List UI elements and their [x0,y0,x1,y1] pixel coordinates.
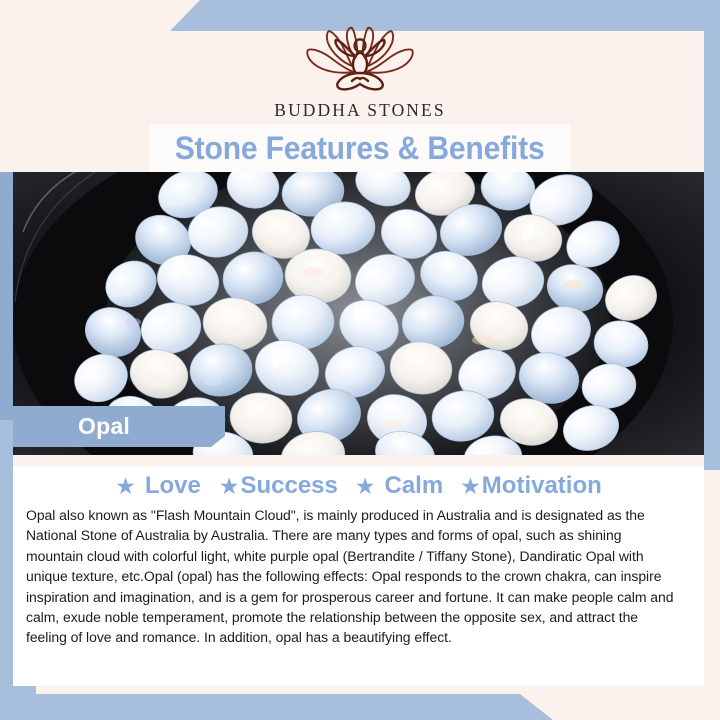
benefit-label-love: Love [145,472,201,500]
page-title: Stone Features & Benefits [175,130,545,167]
benefit-label-motivation: Motivation [482,472,602,500]
decorative-band-bottom [0,694,720,720]
infographic-page: BUDDHA STONES Stone Features & Benefits [0,0,720,720]
benefits-row: ★ Love ★ Success ★ Calm ★ Motivation [13,466,704,500]
benefit-success: ★ Success [219,472,338,500]
star-icon: ★ [115,475,136,498]
benefit-label-calm: Calm [384,472,443,500]
page-header: BUDDHA STONES Stone Features & Benefits [0,0,720,172]
benefit-love: ★ Love [115,472,201,500]
benefit-motivation: ★ Motivation [460,472,602,500]
star-icon: ★ [460,475,481,498]
star-icon: ★ [355,475,376,498]
star-icon: ★ [219,475,240,498]
page-title-band: Stone Features & Benefits [150,124,570,172]
content-panel: ★ Love ★ Success ★ Calm ★ Motivation Opa… [13,466,704,686]
brand-logo: BUDDHA STONES [0,26,720,126]
brand-name: BUDDHA STONES [274,102,445,120]
benefit-label-success: Success [240,472,337,500]
photo-caption-badge: Opal [13,406,225,447]
stone-description: Opal also known as "Flash Mountain Cloud… [26,506,681,649]
lotus-meditation-icon [296,26,424,100]
benefit-calm: ★ Calm [355,472,443,500]
photo-caption-text: Opal [78,415,130,438]
section-divider [13,455,704,466]
